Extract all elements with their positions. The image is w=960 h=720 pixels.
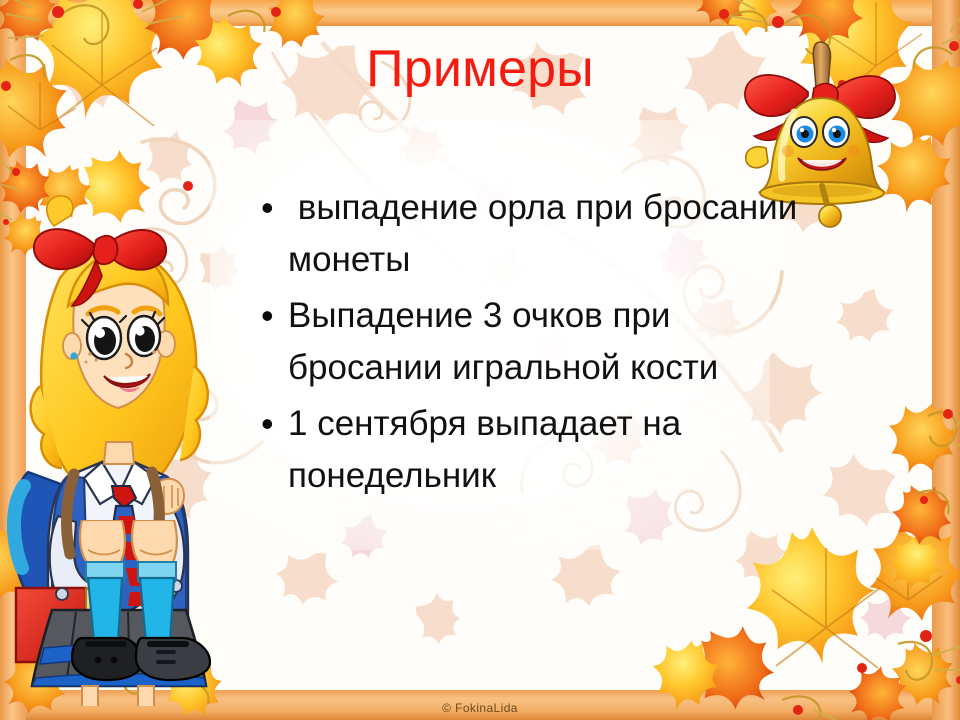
bullet-point-icon: • (258, 290, 288, 342)
bullet-point-icon: • (258, 398, 288, 450)
copyright-credit: © FokinaLida (0, 701, 960, 715)
list-item: • выпадение орла при бросании монеты (258, 182, 818, 286)
schoolgirl-mascot-icon (2, 186, 234, 706)
list-item: • Выпадение 3 очков при бросании игральн… (258, 290, 818, 394)
schoolgirl-legs-shoes-icon (58, 520, 228, 700)
bullet-point-icon: • (258, 182, 288, 234)
list-item-text: 1 сентября выпадает на понедельник (288, 398, 818, 502)
list-item-text: выпадение орла при бросании монеты (288, 182, 818, 286)
frame-border-top (0, 0, 960, 26)
maple-leaf-accent-right-icon (824, 330, 960, 630)
list-item: • 1 сентября выпадает на понедельник (258, 398, 818, 502)
page-title: Примеры (0, 42, 960, 97)
list-item-text: Выпадение 3 очков при бросании игральной… (288, 290, 818, 394)
slide-canvas: Примеры • выпадение орла при бросании мо… (0, 0, 960, 720)
frame-border-right (932, 0, 960, 720)
maple-leaf-corner-bottom-left-icon (0, 502, 294, 720)
frame-border-left (0, 0, 26, 720)
bullet-list: • выпадение орла при бросании монеты • В… (258, 182, 818, 506)
maple-leaf-accent-left-icon (0, 150, 86, 410)
maple-leaf-corner-bottom-right-icon (630, 504, 960, 720)
